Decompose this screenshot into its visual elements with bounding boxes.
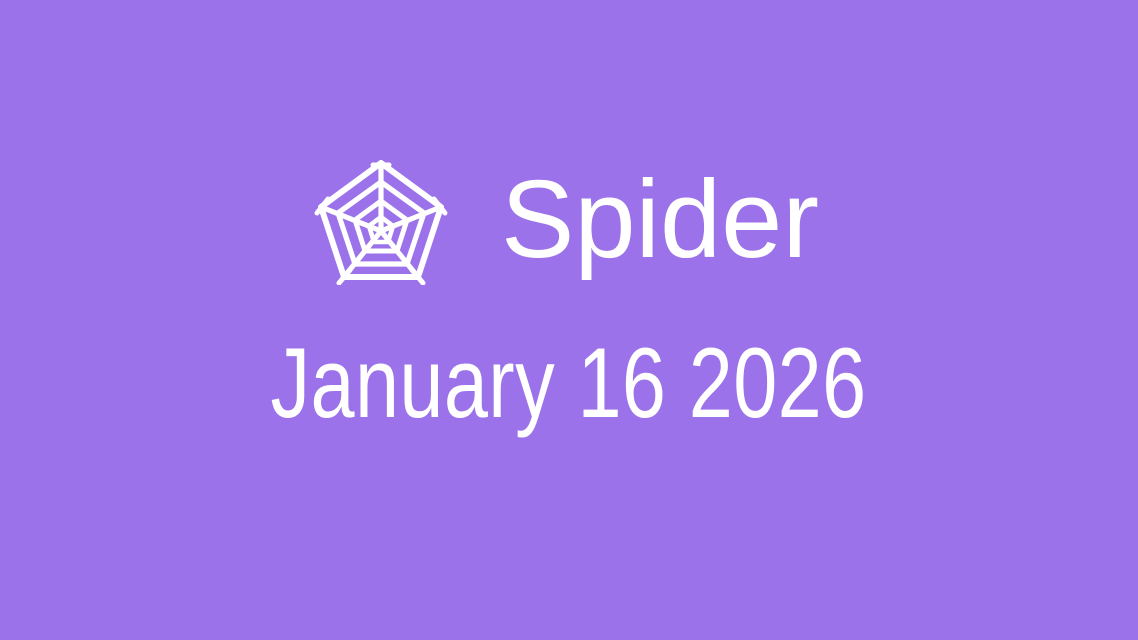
app-title: Spider [501,165,819,275]
title-row: Spider [313,155,819,285]
splash-screen: Spider January 16 2026 [0,0,1138,640]
date-label: January 16 2026 [271,333,867,432]
spiderweb-icon [313,155,449,285]
